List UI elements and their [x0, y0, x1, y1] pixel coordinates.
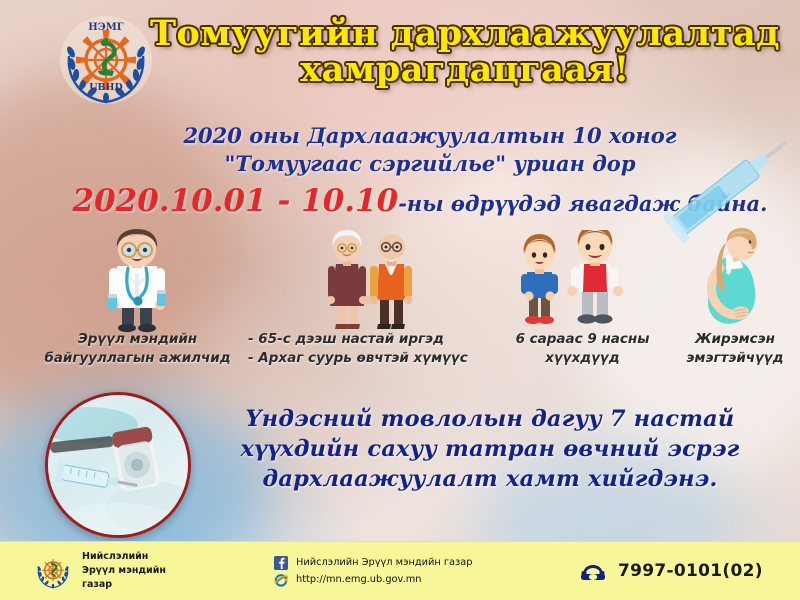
phone-number: 7997-0101(02) — [618, 561, 763, 581]
body-line-2: хүүхдийн сахуу татран өвчний эсрэг — [190, 434, 790, 464]
vaccination-poster: НЭМГ UBHD Томуугийн дархлаажуулалтад хам… — [0, 0, 800, 600]
pregnant-woman-illustration — [680, 224, 798, 334]
telephone-icon — [580, 561, 606, 581]
caption-line: Жирэмсэн — [672, 330, 798, 349]
logo-top-text: НЭМГ — [88, 22, 123, 33]
caption-line: - 65-с дээш настай иргэд — [248, 330, 488, 349]
facebook-page-name: Нийслэлийн Эрүүл мэндийн газар — [296, 557, 472, 568]
caption-line: Эрүүл мэндийн — [20, 330, 255, 349]
caption-line: хүүхдүүд — [490, 349, 675, 368]
caption-children: 6 сараас 9 насны хүүхдүүд — [490, 330, 675, 368]
facebook-icon — [274, 556, 288, 570]
org-line-3: газар — [82, 578, 166, 592]
website-url: http://mn.emg.ub.gov.mn — [296, 574, 421, 585]
facebook-link[interactable]: Нийслэлийн Эрүүл мэндийн газар — [274, 556, 544, 570]
body-line-1: Үндэсний товлолын дагуу 7 настай — [190, 404, 790, 434]
caption-line: эмэгтэйчүүд — [672, 349, 798, 368]
internet-explorer-icon — [274, 573, 288, 587]
body-message: Үндэсний товлолын дагуу 7 настай хүүхдий… — [190, 404, 790, 494]
vaccine-syringe-photo — [45, 392, 191, 538]
caption-line: 6 сараас 9 насны — [490, 330, 675, 349]
caption-elderly-and-chronic: - 65-с дээш настай иргэд - Архаг суурь ө… — [248, 330, 488, 368]
footer-phone: 7997-0101(02) — [580, 561, 763, 581]
org-line-2: Эрүүл мэндийн — [82, 564, 166, 578]
footer-bar: Нийслэлийн Эрүүл мэндийн газар Нийслэлий… — [0, 541, 800, 600]
headline-line-1: Томуугийн дархлаажуулалтад — [140, 16, 790, 52]
footer-health-department-logo — [34, 552, 72, 590]
headline-line-2: хамрагдацгаая! — [140, 52, 790, 88]
campaign-date-range: 2020.10.01 - 10.10 — [73, 183, 399, 219]
elderly-couple-illustration — [300, 226, 440, 334]
body-line-3: дархлаажуулалт хамт хийгдэнэ. — [190, 464, 790, 494]
children-illustration — [498, 230, 648, 334]
footer-links: Нийслэлийн Эрүүл мэндийн газар http://mn… — [274, 553, 544, 590]
doctor-illustration — [62, 226, 212, 334]
logo-bottom-text: UBHD — [89, 82, 123, 93]
caption-line: - Архаг суурь өвчтэй хүмүүс — [248, 349, 488, 368]
footer-organization-name: Нийслэлийн Эрүүл мэндийн газар — [82, 550, 166, 591]
page-title: Томуугийн дархлаажуулалтад хамрагдацгаая… — [140, 16, 790, 87]
caption-pregnant-women: Жирэмсэн эмэгтэйчүүд — [672, 330, 798, 368]
website-link[interactable]: http://mn.emg.ub.gov.mn — [274, 573, 544, 587]
org-line-1: Нийслэлийн — [82, 550, 166, 564]
footer-organization: Нийслэлийн Эрүүл мэндийн газар — [34, 550, 274, 591]
caption-line: байгууллагын ажилчид — [20, 349, 255, 368]
caption-health-workers: Эрүүл мэндийн байгууллагын ажилчид — [20, 330, 255, 368]
